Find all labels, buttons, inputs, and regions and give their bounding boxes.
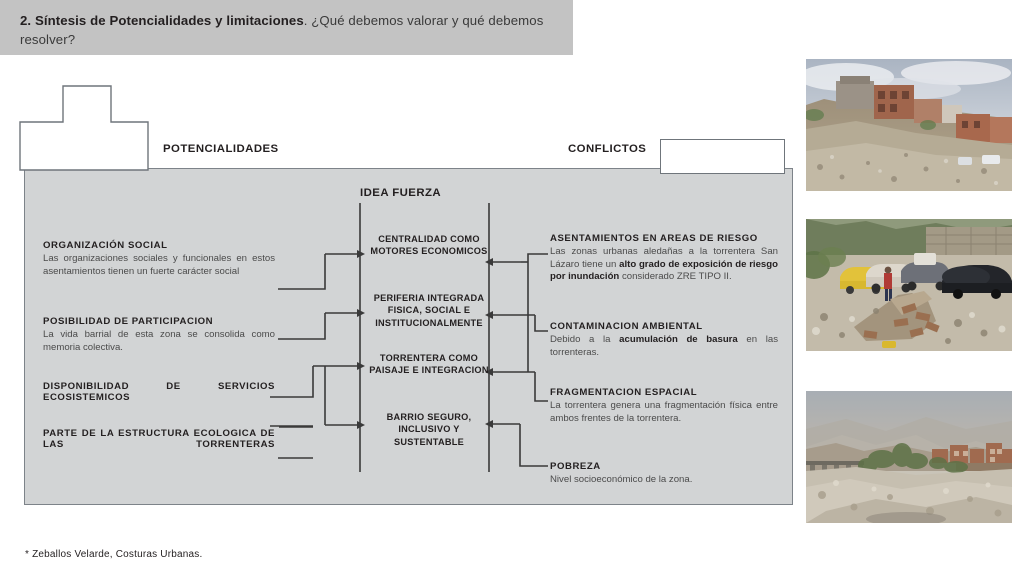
potencialidad-title: DISPONIBILIDAD DE SERVICIOS ECOSISTEMICO… <box>43 381 275 403</box>
conflicto-title: ASENTAMIENTOS EN AREAS DE RIESGO <box>550 233 778 244</box>
conflicto-item: FRAGMENTACION ESPACIAL La torrentera gen… <box>550 387 778 425</box>
column-header-idea-fuerza: IDEA FUERZA <box>360 187 441 199</box>
photo-dry-ravine-mountain <box>806 391 1012 523</box>
idea-fuerza-item: PERIFERIA INTEGRADA FISICA, SOCIAL E INS… <box>366 292 492 329</box>
page-title-number: 2. <box>20 13 31 28</box>
column-header-potencialidades: POTENCIALIDADES <box>163 143 279 155</box>
photo-ravine-rubble-cars <box>806 219 1012 351</box>
conflicto-body: La torrentera genera una fragmentación f… <box>550 400 778 425</box>
conflicto-title: POBREZA <box>550 461 778 472</box>
conflicto-item: CONTAMINACION AMBIENTAL Debido a la acum… <box>550 321 778 359</box>
idea-fuerza-item: BARRIO SEGURO, INCLUSIVO Y SUSTENTABLE <box>366 411 492 448</box>
conflicto-title: FRAGMENTACION ESPACIAL <box>550 387 778 398</box>
conflicto-item: POBREZA Nivel socioeconómico de la zona. <box>550 461 778 487</box>
potencialidad-title: POSIBILIDAD DE PARTICIPACION <box>43 316 275 327</box>
idea-fuerza-item: TORRENTERA COMO PAISAJE E INTEGRACION <box>366 352 492 377</box>
conflicto-item: ASENTAMIENTOS EN AREAS DE RIESGO Las zon… <box>550 233 778 284</box>
potencialidad-body: Las organizaciones sociales y funcionale… <box>43 253 275 278</box>
conflicto-body: Las zonas urbanas aledañas a la torrente… <box>550 246 778 284</box>
conflicto-body: Debido a la acumulación de basura en las… <box>550 334 778 359</box>
potencialidad-title: PARTE DE LA ESTRUCTURA ECOLOGICA DE LAS … <box>43 428 275 450</box>
potencialidad-item: ORGANIZACIÓN SOCIAL Las organizaciones s… <box>43 240 275 278</box>
potencialidad-item: POSIBILIDAD DE PARTICIPACION La vida bar… <box>43 316 275 354</box>
page-title: 2. Síntesis de Potencialidades y limitac… <box>20 11 565 49</box>
plus-symbol-icon <box>19 85 149 171</box>
footer-source-note: * Zeballos Velarde, Costuras Urbanas. <box>25 549 203 560</box>
conflicts-empty-box <box>660 139 785 174</box>
photo-settlement-slope <box>806 59 1012 191</box>
potencialidad-item: PARTE DE LA ESTRUCTURA ECOLOGICA DE LAS … <box>43 428 275 452</box>
conflicto-body: Nivel socioeconómico de la zona. <box>550 474 778 487</box>
idea-fuerza-item: CENTRALIDAD COMO MOTORES ECONOMICOS <box>366 233 492 258</box>
conflicto-title: CONTAMINACION AMBIENTAL <box>550 321 778 332</box>
column-header-conflictos: CONFLICTOS <box>568 143 646 155</box>
potencialidad-body: La vida barrial de esta zona se consolid… <box>43 329 275 354</box>
page-title-bold: Síntesis de Potencialidades y limitacion… <box>35 13 304 28</box>
potencialidad-title: ORGANIZACIÓN SOCIAL <box>43 240 275 251</box>
potencialidad-item: DISPONIBILIDAD DE SERVICIOS ECOSISTEMICO… <box>43 381 275 405</box>
